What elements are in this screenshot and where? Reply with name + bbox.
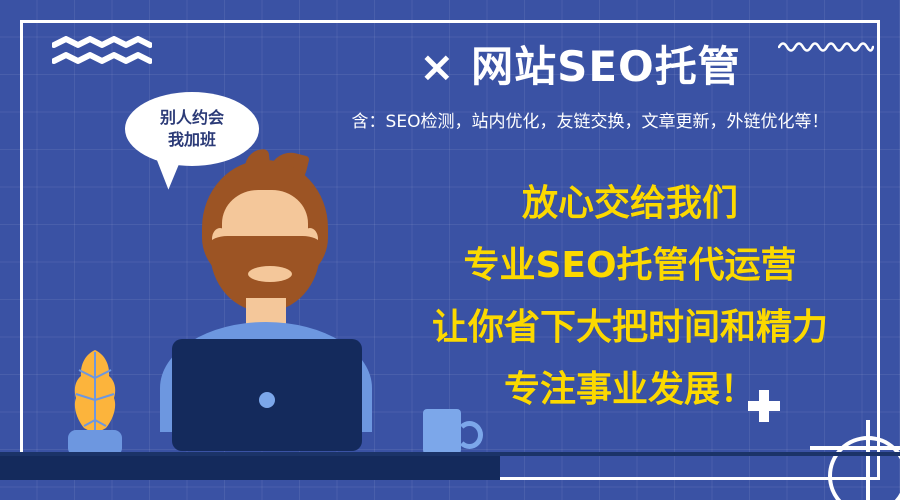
banner-subtitle: 含：SEO检测，站内优化，友链交换，文章更新，外链优化等！ bbox=[300, 112, 880, 132]
potted-plant bbox=[60, 348, 130, 458]
desk-edge bbox=[0, 452, 900, 456]
speech-bubble-line-1: 别人约会 bbox=[160, 107, 224, 129]
selling-point-4: 专注事业发展！ bbox=[380, 372, 880, 408]
selling-points-list: 放心交给我们 专业SEO托管代运营 让你省下大把时间和精力 专注事业发展！ bbox=[380, 186, 880, 408]
leaf-icon bbox=[70, 348, 120, 436]
selling-point-1: 放心交给我们 bbox=[380, 186, 880, 222]
coffee-mug bbox=[423, 409, 473, 455]
speech-bubble-line-2: 我加班 bbox=[168, 129, 216, 151]
laptop bbox=[172, 339, 362, 451]
mouth bbox=[248, 266, 292, 282]
selling-point-3: 让你省下大把时间和精力 bbox=[380, 310, 880, 346]
double-wave-icon bbox=[52, 36, 152, 70]
selling-point-2: 专业SEO托管代运营 bbox=[380, 248, 880, 284]
mug-handle bbox=[456, 421, 483, 449]
laptop-logo-dot bbox=[259, 392, 275, 408]
desk bbox=[0, 452, 500, 480]
circle-crosshair-icon bbox=[810, 420, 900, 500]
banner-title: × 网站SEO托管 bbox=[300, 44, 860, 90]
seo-hosting-banner: × 网站SEO托管 含：SEO检测，站内优化，友链交换，文章更新，外链优化等！ … bbox=[0, 0, 900, 500]
